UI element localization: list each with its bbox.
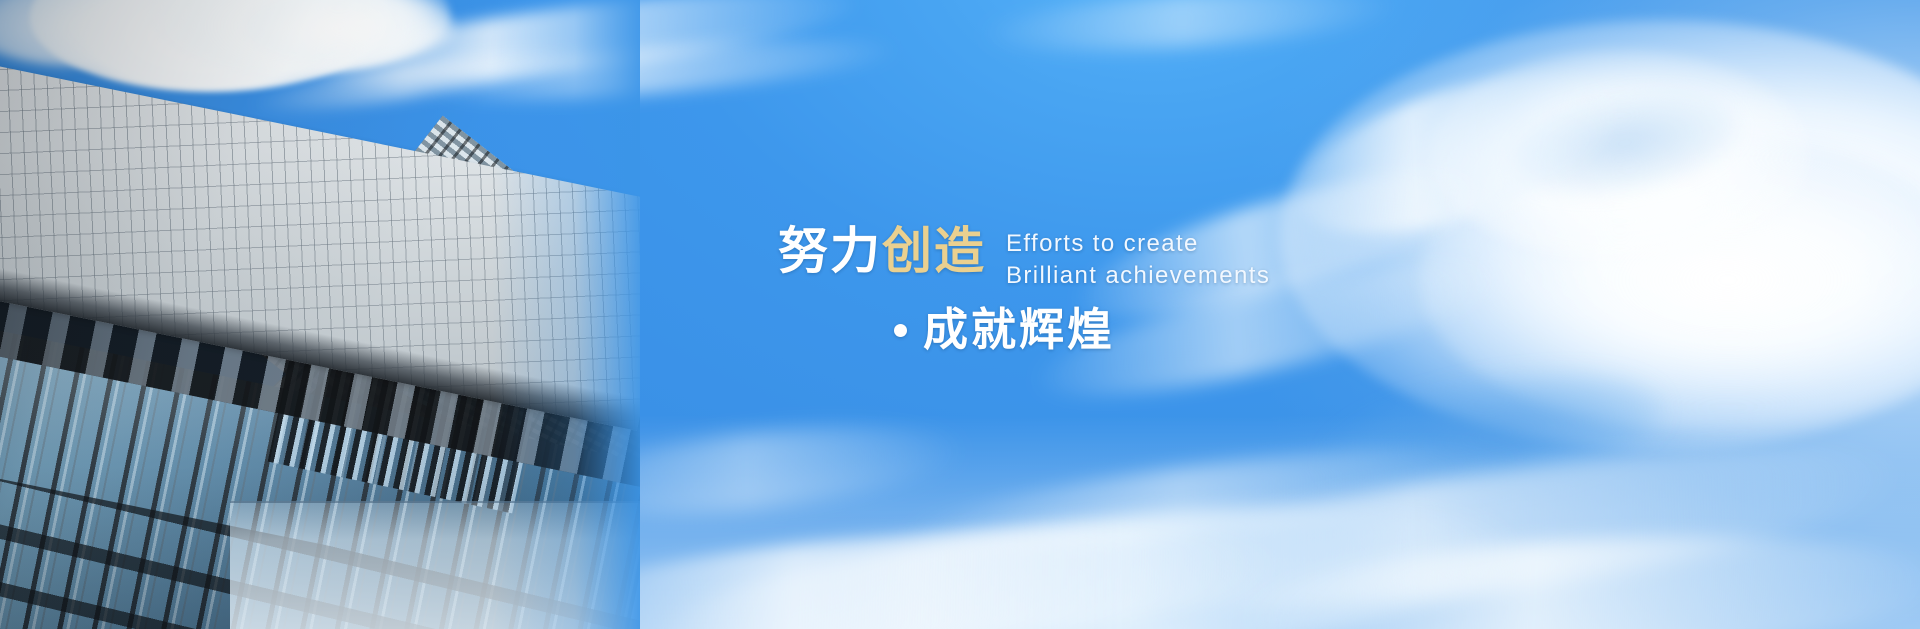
hero-banner: 努力创造 Efforts to create Brilliant achieve… [0,0,1920,629]
skyscraper-photo [0,0,640,629]
photo-right-feather [492,0,640,629]
headline-en-line1: Efforts to create [1006,228,1270,260]
banner-copy: 努力创造 Efforts to create Brilliant achieve… [778,222,1538,356]
bullet-dot-icon [894,324,907,337]
subline-row: 成就辉煌 [894,304,1538,356]
headline-cn-gold: 创造 [882,222,986,280]
headline-en-line2: Brilliant achievements [1006,260,1270,292]
headline-chinese: 努力创造 [778,222,986,280]
photo-content [0,0,640,629]
headline-english: Efforts to create Brilliant achievements [1006,228,1270,292]
subline-chinese: 成就辉煌 [923,304,1115,356]
headline-row: 努力创造 Efforts to create Brilliant achieve… [778,222,1538,292]
headline-cn-white: 努力 [778,222,882,280]
